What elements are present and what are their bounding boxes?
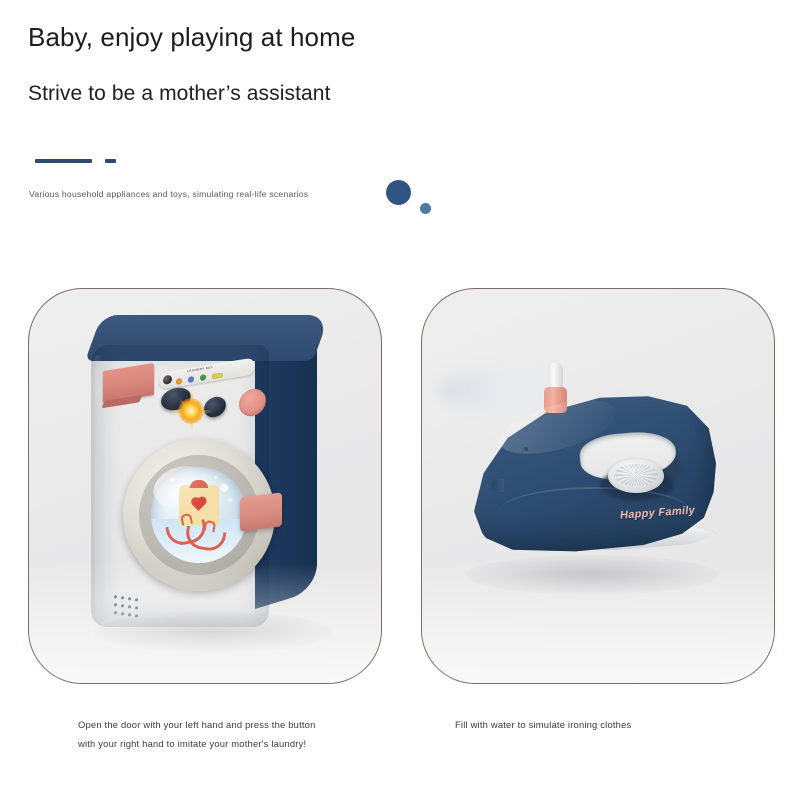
iron-illustration: Happy Family	[452, 359, 742, 609]
caption-washing-machine: Open the door with your left hand and pr…	[78, 715, 323, 753]
rule-short-dash	[105, 159, 116, 163]
bubble-2	[227, 497, 233, 503]
product-card-washing-machine[interactable]: LAUNDRY SET	[28, 288, 382, 684]
washing-machine-illustration: LAUNDRY SET	[73, 311, 338, 661]
program-knob-right[interactable]	[203, 394, 228, 420]
door-glass-window	[151, 467, 247, 563]
bubble-1	[219, 483, 229, 493]
control-panel-strip[interactable]: LAUNDRY SET	[159, 357, 255, 389]
indicator-light-blue	[188, 376, 194, 383]
indicator-light-green	[200, 374, 206, 381]
iron-side-button[interactable]	[492, 479, 504, 492]
heart-icon	[192, 498, 205, 511]
speaker-grille	[114, 590, 150, 623]
indicator-light-orange	[176, 378, 182, 385]
indicator-light-yellow	[212, 372, 223, 379]
bubble-4	[169, 477, 176, 484]
bubble-3	[213, 475, 218, 480]
panel-brand-label: LAUNDRY SET	[187, 365, 213, 373]
temperature-dial[interactable]	[608, 459, 664, 493]
product-card-iron[interactable]: Happy Family	[421, 288, 775, 684]
rule-long-dash	[35, 159, 92, 163]
page-title: Baby, enjoy playing at home	[28, 21, 355, 53]
page-subtitle: Strive to be a mother’s assistant	[28, 80, 331, 107]
iron-shadow	[466, 555, 718, 595]
program-knob-left[interactable]	[161, 386, 191, 413]
water-nozzle-collar[interactable]	[544, 387, 567, 413]
panel-knob-icon[interactable]	[163, 375, 172, 385]
decorative-rule	[35, 158, 116, 163]
iron-vent-dot	[524, 447, 528, 451]
caption-iron: Fill with water to simulate ironing clot…	[455, 715, 755, 734]
detergent-drawer[interactable]	[103, 363, 154, 403]
decorative-circle-large	[386, 180, 411, 205]
door-handle[interactable]	[240, 492, 282, 531]
indicator-lights	[176, 371, 223, 384]
power-button[interactable]	[239, 387, 266, 418]
decorative-circle-small	[420, 203, 431, 214]
washing-machine-front-panel: LAUNDRY SET	[91, 345, 269, 627]
intro-description: Various household appliances and toys, s…	[29, 188, 329, 201]
